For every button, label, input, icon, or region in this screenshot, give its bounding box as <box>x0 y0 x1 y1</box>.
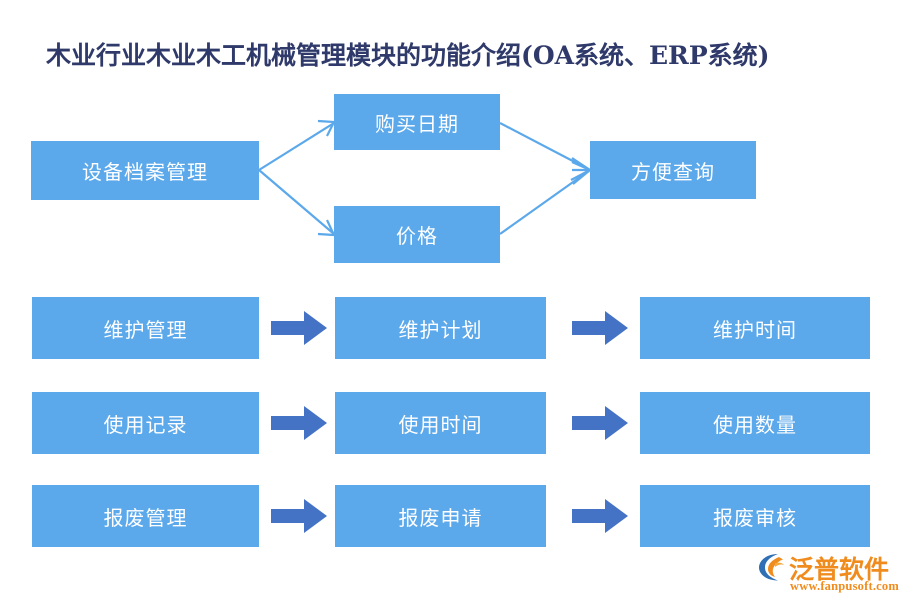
block-arrow-icon <box>271 311 327 345</box>
connector-price-to-query <box>500 162 590 234</box>
node-scrap-application[interactable]: 报废申请 <box>335 485 546 547</box>
node-convenient-query[interactable]: 方便查询 <box>590 141 756 199</box>
node-scrap-review[interactable]: 报废审核 <box>640 485 870 547</box>
node-maintenance-management[interactable]: 维护管理 <box>32 297 259 359</box>
connector-equip-to-date <box>259 121 334 170</box>
node-price[interactable]: 价格 <box>334 206 500 263</box>
flowchart-canvas: 木业行业木业木工机械管理模块的功能介绍(OA系统、ERP系统) 设备档案管理 购… <box>0 0 900 600</box>
node-usage-time[interactable]: 使用时间 <box>335 392 546 454</box>
page-title: 木业行业木业木工机械管理模块的功能介绍(OA系统、ERP系统) <box>46 36 866 72</box>
node-usage-quantity[interactable]: 使用数量 <box>640 392 870 454</box>
fanpu-logo: 泛普软件 www.fanpusoft.com <box>757 550 897 596</box>
block-arrow-icon <box>572 499 628 533</box>
node-usage-record[interactable]: 使用记录 <box>32 392 259 454</box>
block-arrow-icon <box>271 406 327 440</box>
node-equipment-archive[interactable]: 设备档案管理 <box>31 141 259 200</box>
fanpu-swoosh-icon <box>757 552 787 582</box>
node-maintenance-time[interactable]: 维护时间 <box>640 297 870 359</box>
node-purchase-date[interactable]: 购买日期 <box>334 94 500 150</box>
block-arrow-icon <box>271 499 327 533</box>
connector-equip-to-price <box>259 170 334 235</box>
node-maintenance-plan[interactable]: 维护计划 <box>335 297 546 359</box>
logo-url: www.fanpusoft.com <box>790 579 899 594</box>
block-arrow-icon <box>572 311 628 345</box>
connector-date-to-query <box>500 123 590 180</box>
block-arrow-icon <box>572 406 628 440</box>
node-scrap-management[interactable]: 报废管理 <box>32 485 259 547</box>
